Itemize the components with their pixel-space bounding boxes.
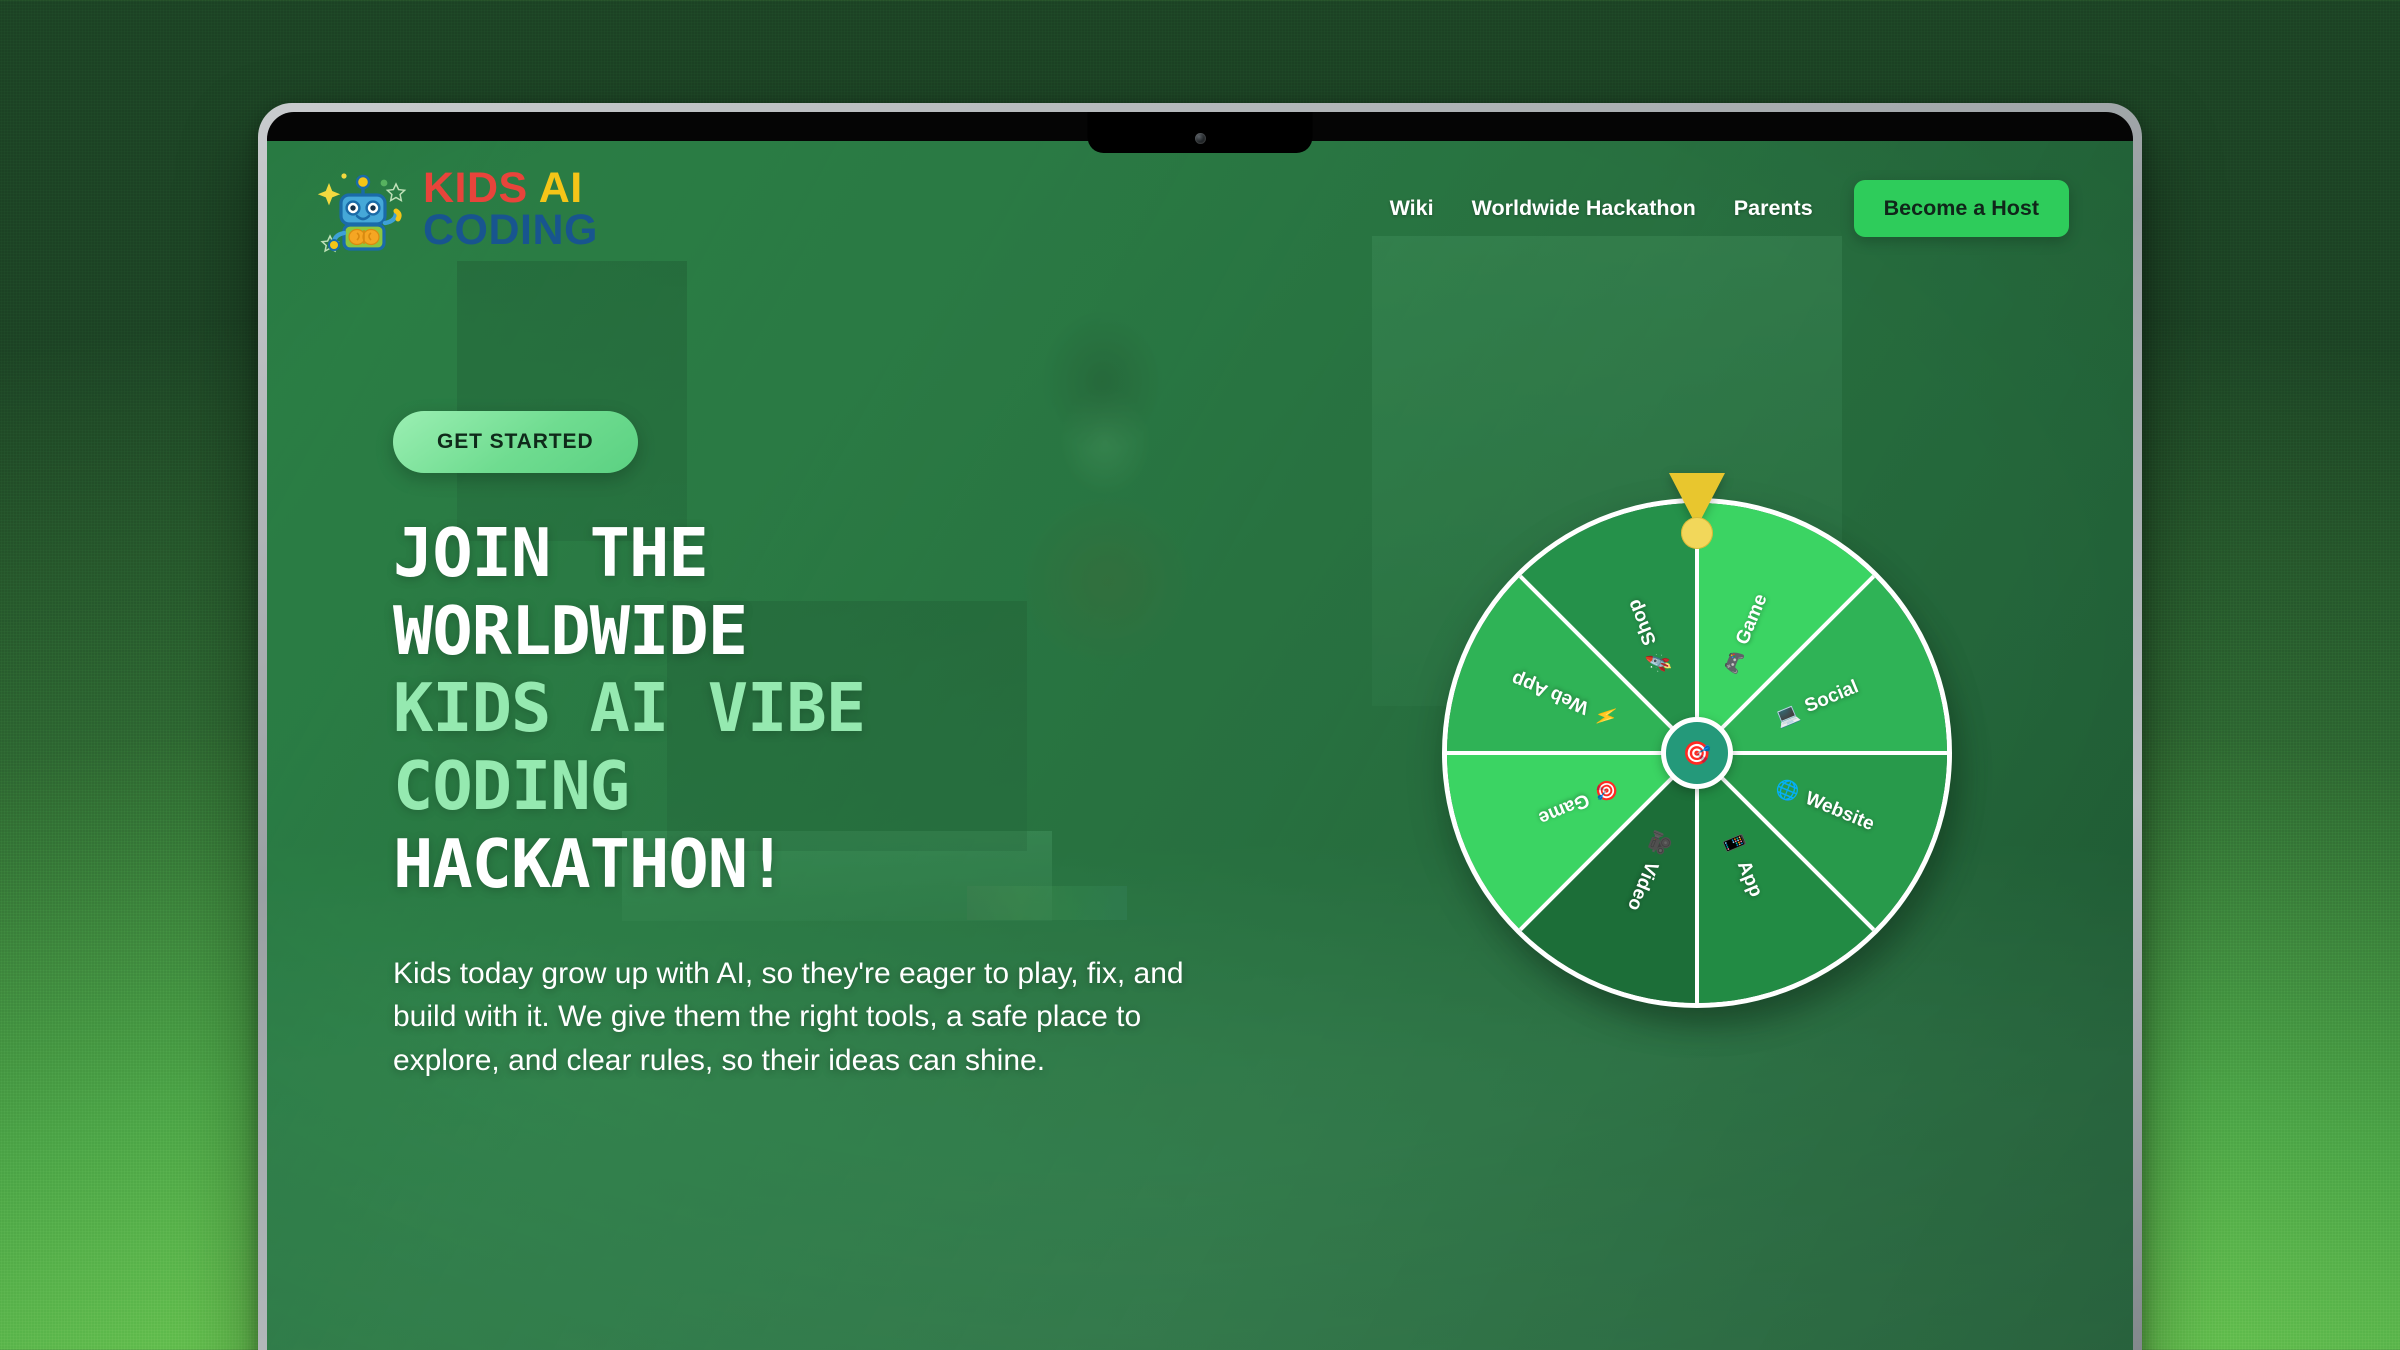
wheel-pointer-knob-icon bbox=[1681, 517, 1713, 549]
headline-line-4: CODING bbox=[393, 748, 1253, 826]
logo-kids-text: KIDS bbox=[423, 164, 528, 212]
laptop-notch bbox=[1088, 112, 1313, 153]
camera-dot-icon bbox=[1195, 133, 1206, 144]
wheel-spoke bbox=[1695, 753, 1699, 1003]
laptop-device-mockup: KIDSAI CODING Wiki Worldwide Hackathon P… bbox=[258, 103, 2142, 1350]
site-logo[interactable]: KIDSAI CODING bbox=[317, 163, 598, 255]
hero-paragraph: Kids today grow up with AI, so they're e… bbox=[393, 952, 1193, 1083]
laptop-bezel: KIDSAI CODING Wiki Worldwide Hackathon P… bbox=[267, 112, 2133, 1350]
wheel-segment-label: Game bbox=[1732, 591, 1773, 648]
wheel-segment-label: Game bbox=[1535, 788, 1592, 829]
logo-ai-text: AI bbox=[539, 164, 583, 212]
headline-line-5: HACKATHON! bbox=[393, 826, 1253, 904]
become-a-host-button[interactable]: Become a Host bbox=[1854, 180, 2069, 237]
robot-mascot-icon bbox=[317, 163, 409, 255]
logo-wordmark: KIDSAI CODING bbox=[423, 168, 598, 250]
hero-section: GET STARTED JOIN THE WORLDWIDE KIDS AI V… bbox=[393, 411, 1253, 1082]
headline-line-3: KIDS AI VIBE bbox=[393, 670, 1253, 748]
wheel-segment-label: Shop bbox=[1624, 596, 1663, 648]
browser-viewport: KIDSAI CODING Wiki Worldwide Hackathon P… bbox=[267, 141, 2133, 1350]
wheel-spoke bbox=[1696, 752, 1876, 932]
wheel-spoke bbox=[1447, 751, 1697, 755]
wheel-segment-emoji: 🎥 bbox=[1644, 828, 1675, 859]
wheel-hub[interactable]: 🎯 bbox=[1661, 717, 1733, 789]
spin-wheel[interactable]: 🎮Game💻Social🌐Website📱App🎥Video🎯Game⚡Web … bbox=[1447, 503, 1947, 1003]
logo-line-one: KIDSAI bbox=[423, 168, 598, 208]
get-started-button[interactable]: GET STARTED bbox=[393, 411, 638, 473]
wheel-spoke bbox=[1697, 751, 1947, 755]
wheel-segment-emoji: 🎯 bbox=[1591, 775, 1622, 806]
wheel-segment-emoji: 🌐 bbox=[1772, 775, 1803, 806]
wheel-segment-label: App bbox=[1732, 858, 1766, 901]
headline-line-2: WORLDWIDE bbox=[393, 593, 1253, 671]
wheel-segment-label: Website bbox=[1802, 788, 1877, 836]
nav-link-wiki[interactable]: Wiki bbox=[1371, 196, 1453, 221]
nav-link-parents[interactable]: Parents bbox=[1715, 196, 1832, 221]
headline-line-1: JOIN THE bbox=[393, 515, 1253, 593]
page-title: JOIN THE WORLDWIDE KIDS AI VIBE CODING H… bbox=[393, 515, 1253, 904]
wheel-segment-emoji: 💻 bbox=[1772, 700, 1803, 731]
wheel-segment-emoji: 🎮 bbox=[1719, 647, 1750, 678]
nav-link-worldwide-hackathon[interactable]: Worldwide Hackathon bbox=[1453, 196, 1715, 221]
wheel-segment-label: Social bbox=[1802, 676, 1862, 718]
logo-coding-text: CODING bbox=[423, 210, 598, 250]
wheel-segment-emoji: 📱 bbox=[1719, 828, 1750, 859]
wheel-segment-emoji: ⚡ bbox=[1591, 700, 1622, 731]
wheel-segment-emoji: 🚀 bbox=[1644, 647, 1675, 678]
wheel-segment-label: Web App bbox=[1509, 667, 1593, 718]
nav-links: Wiki Worldwide Hackathon Parents Become … bbox=[1371, 180, 2069, 237]
site-navbar: KIDSAI CODING Wiki Worldwide Hackathon P… bbox=[267, 141, 2133, 276]
wheel-segment-label: Video bbox=[1622, 858, 1662, 914]
